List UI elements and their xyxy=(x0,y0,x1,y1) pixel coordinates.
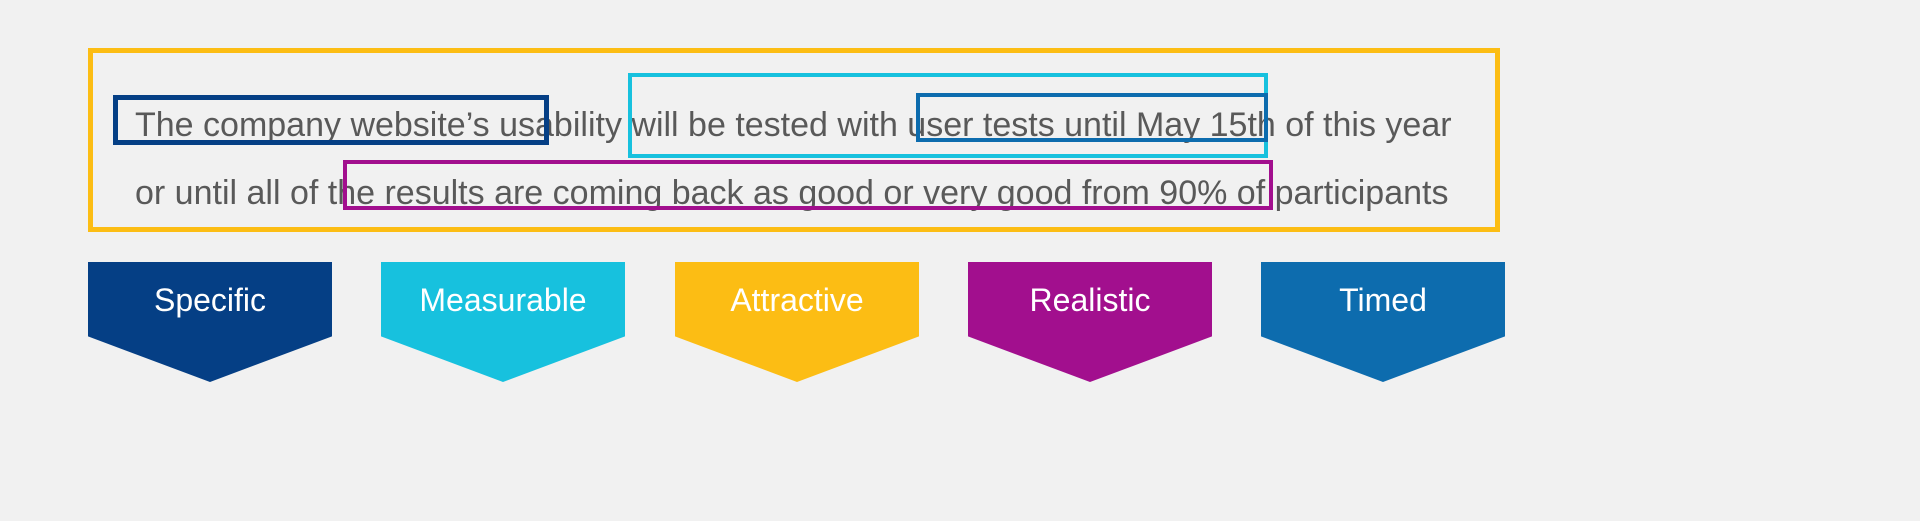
smart-legend-row: Specific Measurable Attractive Realistic… xyxy=(0,262,1920,402)
goal-segment-timed: until May 15th of this year xyxy=(1064,108,1451,142)
goal-segment-plain-2: or until all of the xyxy=(135,176,384,210)
legend-label-timed: Timed xyxy=(1339,284,1427,316)
goal-segment-plain-1: will be xyxy=(622,108,735,142)
goal-segment-measurable: tested with user tests xyxy=(735,108,1064,142)
goal-segment-specific: The company website’s usability xyxy=(135,108,622,142)
attractive-goal-frame: The company website’s usability will be … xyxy=(88,48,1500,232)
legend-chevron-realistic[interactable]: Realistic xyxy=(968,262,1212,382)
goal-segment-realistic: results are coming back as good or very … xyxy=(384,176,1448,210)
legend-label-specific: Specific xyxy=(154,284,266,316)
smart-goal-slide: { "colors": { "background": "#f1f1f1", "… xyxy=(0,0,1920,521)
legend-chevron-measurable[interactable]: Measurable xyxy=(381,262,625,382)
legend-label-attractive: Attractive xyxy=(730,284,863,316)
legend-chevron-timed[interactable]: Timed xyxy=(1261,262,1505,382)
legend-chevron-attractive[interactable]: Attractive xyxy=(675,262,919,382)
legend-chevron-specific[interactable]: Specific xyxy=(88,262,332,382)
legend-label-realistic: Realistic xyxy=(1030,284,1151,316)
legend-label-measurable: Measurable xyxy=(419,284,586,316)
